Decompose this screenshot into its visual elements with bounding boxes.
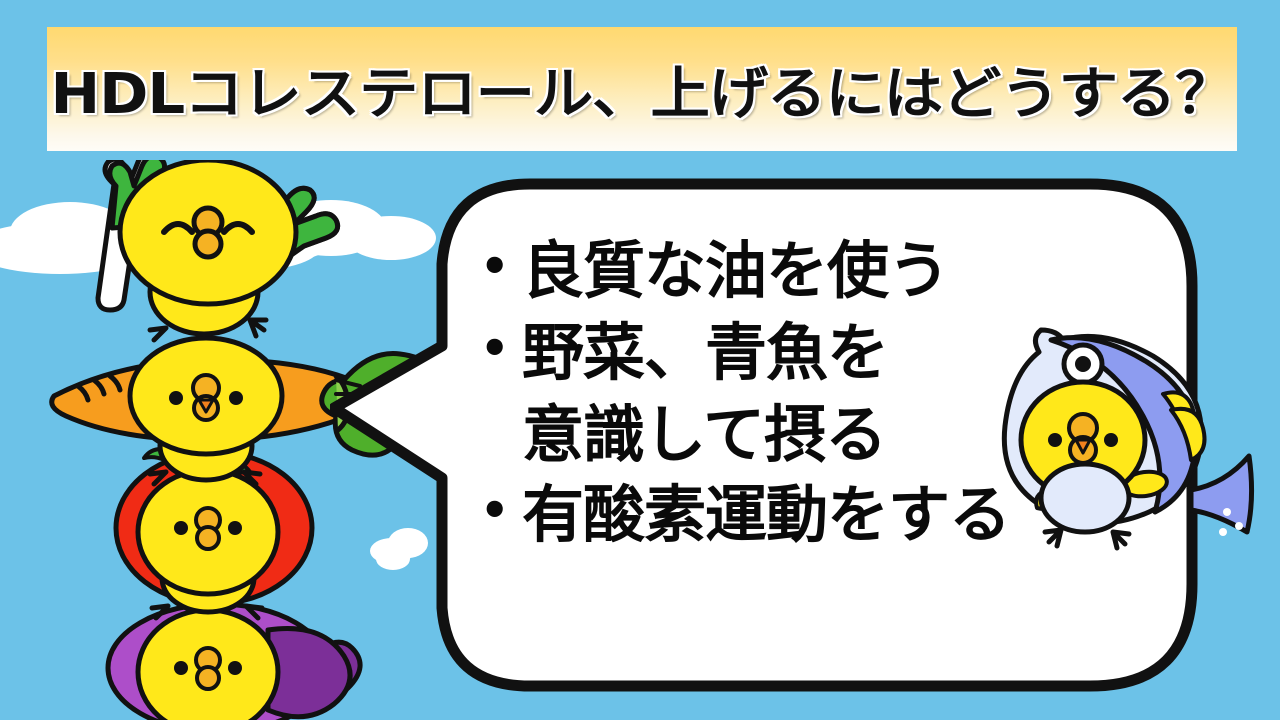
bullet-marker: • xyxy=(480,240,522,293)
bullet-marker: • xyxy=(480,484,522,537)
blue-fish-chick xyxy=(995,322,1265,586)
bullet-text: 意識して摂る xyxy=(522,404,886,466)
bullet-line: • 良質な油を使う xyxy=(480,240,1180,302)
bullet-text: 有酸素運動をする xyxy=(522,484,1010,546)
title-banner: HDLコレステロール、上げるにはどうする？ xyxy=(47,27,1237,151)
page-title: HDLコレステロール、上げるにはどうする？ xyxy=(50,49,1233,130)
chick-with-leeks xyxy=(98,160,338,340)
bullet-marker: • xyxy=(480,322,522,375)
bullet-text: 野菜、青魚を xyxy=(522,322,888,384)
slide-canvas: • 良質な油を使う • 野菜、青魚を • 意識して摂る • 有酸素運動をする xyxy=(0,0,1280,720)
bullet-text: 良質な油を使う xyxy=(522,240,949,302)
chick-in-eggplant xyxy=(108,604,360,720)
